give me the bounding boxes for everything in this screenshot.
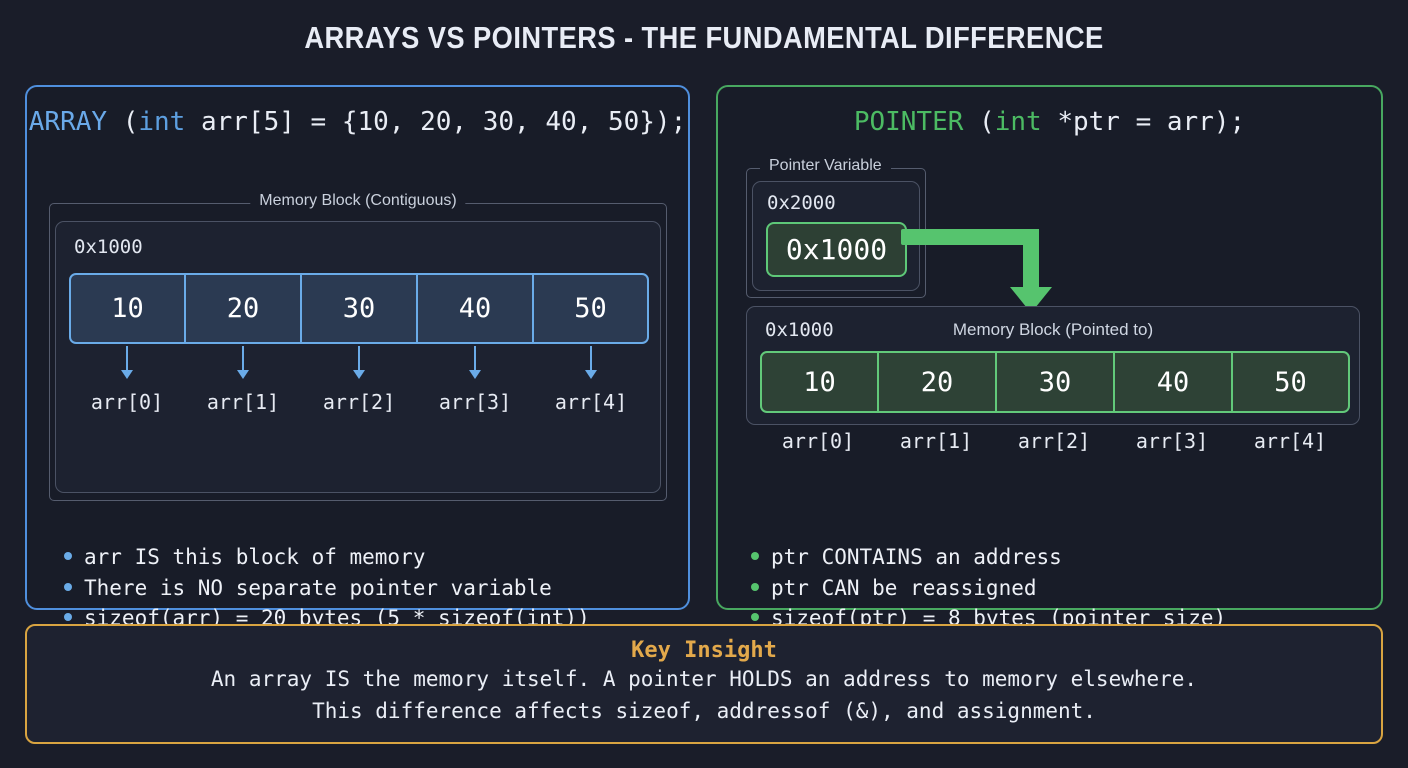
pointer-open-paren: ( [963,107,994,137]
pointer-index-labels: arr[0] arr[1] arr[2] arr[3] arr[4] [759,429,1349,453]
key-insight-title: Key Insight [27,638,1381,663]
array-memory-group: Memory Block (Contiguous) 0x1000 10 20 3… [49,203,667,501]
pointer-type-keyword: int [995,107,1042,137]
array-index-labels: arr[0] arr[1] arr[2] arr[3] arr[4] [69,390,649,414]
array-keyword: ARRAY [29,107,107,137]
pointer-bullet-text: ptr CONTAINS an address [771,542,1062,573]
bullet-dot-icon [64,583,72,591]
list-item: ptr CONTAINS an address [751,542,1226,573]
key-insight-box: Key Insight An array IS the memory itsel… [25,624,1383,744]
list-item: There is NO separate pointer variable [64,573,590,604]
pointer-arrow-vertical-segment [1023,229,1039,290]
pointer-cell[interactable]: 30 [996,351,1114,413]
array-index-label: arr[4] [533,390,649,414]
pointer-bullet-text: ptr CAN be reassigned [771,573,1037,604]
pointer-arrow-horizontal-segment [901,229,1039,245]
array-bullet-text: There is NO separate pointer variable [84,573,552,604]
array-index-label: arr[3] [417,390,533,414]
bullet-dot-icon [751,583,759,591]
pointer-variable-box: 0x2000 0x1000 [752,181,920,291]
pointer-panel-header: POINTER (int *ptr = arr); [718,107,1381,137]
pointer-variable-legend: Pointer Variable [760,157,891,175]
array-base-address: 0x1000 [74,236,143,258]
list-item: ptr CAN be reassigned [751,573,1226,604]
list-item: arr IS this block of memory [64,542,590,573]
array-cells: 10 20 30 40 50 [69,273,649,344]
pointer-index-label: arr[1] [877,429,995,453]
array-type-keyword: int [138,107,185,137]
bullet-dot-icon [751,552,759,560]
pointer-index-label: arr[2] [995,429,1113,453]
array-group-legend: Memory Block (Contiguous) [250,192,465,210]
bullet-dot-icon [751,613,759,621]
pointer-memory-box: 0x1000 Memory Block (Pointed to) 10 20 3… [746,306,1360,425]
pointer-index-label: arr[0] [759,429,877,453]
array-open-paren: ( [107,107,138,137]
array-cell[interactable]: 20 [185,273,301,344]
pointer-variable-address: 0x2000 [767,192,836,214]
array-index-label: arr[0] [69,390,185,414]
key-insight-line-2: This difference affects sizeof, addresso… [27,695,1381,727]
pointer-index-label: arr[3] [1113,429,1231,453]
pointer-block-caption: Memory Block (Pointed to) [747,320,1359,340]
bullet-dot-icon [64,552,72,560]
pointer-keyword: POINTER [854,107,964,137]
pointer-stored-value[interactable]: 0x1000 [766,222,907,277]
array-cell[interactable]: 10 [69,273,185,344]
diagram-canvas: ARRAYS VS POINTERS - THE FUNDAMENTAL DIF… [0,0,1408,768]
pointer-panel: POINTER (int *ptr = arr); Pointer Variab… [716,85,1383,610]
array-memory-box: 0x1000 10 20 30 40 50 arr[0] [55,221,661,493]
array-index-label: arr[2] [301,390,417,414]
array-index-label: arr[1] [185,390,301,414]
array-decl-rest: arr[5] = {10, 20, 30, 40, 50}); [185,107,686,137]
array-cell[interactable]: 30 [301,273,417,344]
pointer-decl-rest: *ptr = arr); [1042,107,1246,137]
array-panel-header: ARRAY (int arr[5] = {10, 20, 30, 40, 50}… [27,107,688,137]
pointer-cells: 10 20 30 40 50 [760,351,1350,413]
page-title: ARRAYS VS POINTERS - THE FUNDAMENTAL DIF… [84,20,1323,56]
pointer-cell[interactable]: 10 [760,351,878,413]
pointer-variable-group: Pointer Variable 0x2000 0x1000 [746,168,926,298]
pointer-index-label: arr[4] [1231,429,1349,453]
bullet-dot-icon [64,613,72,621]
key-insight-line-1: An array IS the memory itself. A pointer… [27,663,1381,695]
pointer-cell[interactable]: 40 [1114,351,1232,413]
array-panel: ARRAY (int arr[5] = {10, 20, 30, 40, 50}… [25,85,690,610]
pointer-cell[interactable]: 50 [1232,351,1350,413]
array-cell[interactable]: 50 [533,273,649,344]
array-bullet-text: arr IS this block of memory [84,542,425,573]
array-cell[interactable]: 40 [417,273,533,344]
pointer-cell[interactable]: 20 [878,351,996,413]
